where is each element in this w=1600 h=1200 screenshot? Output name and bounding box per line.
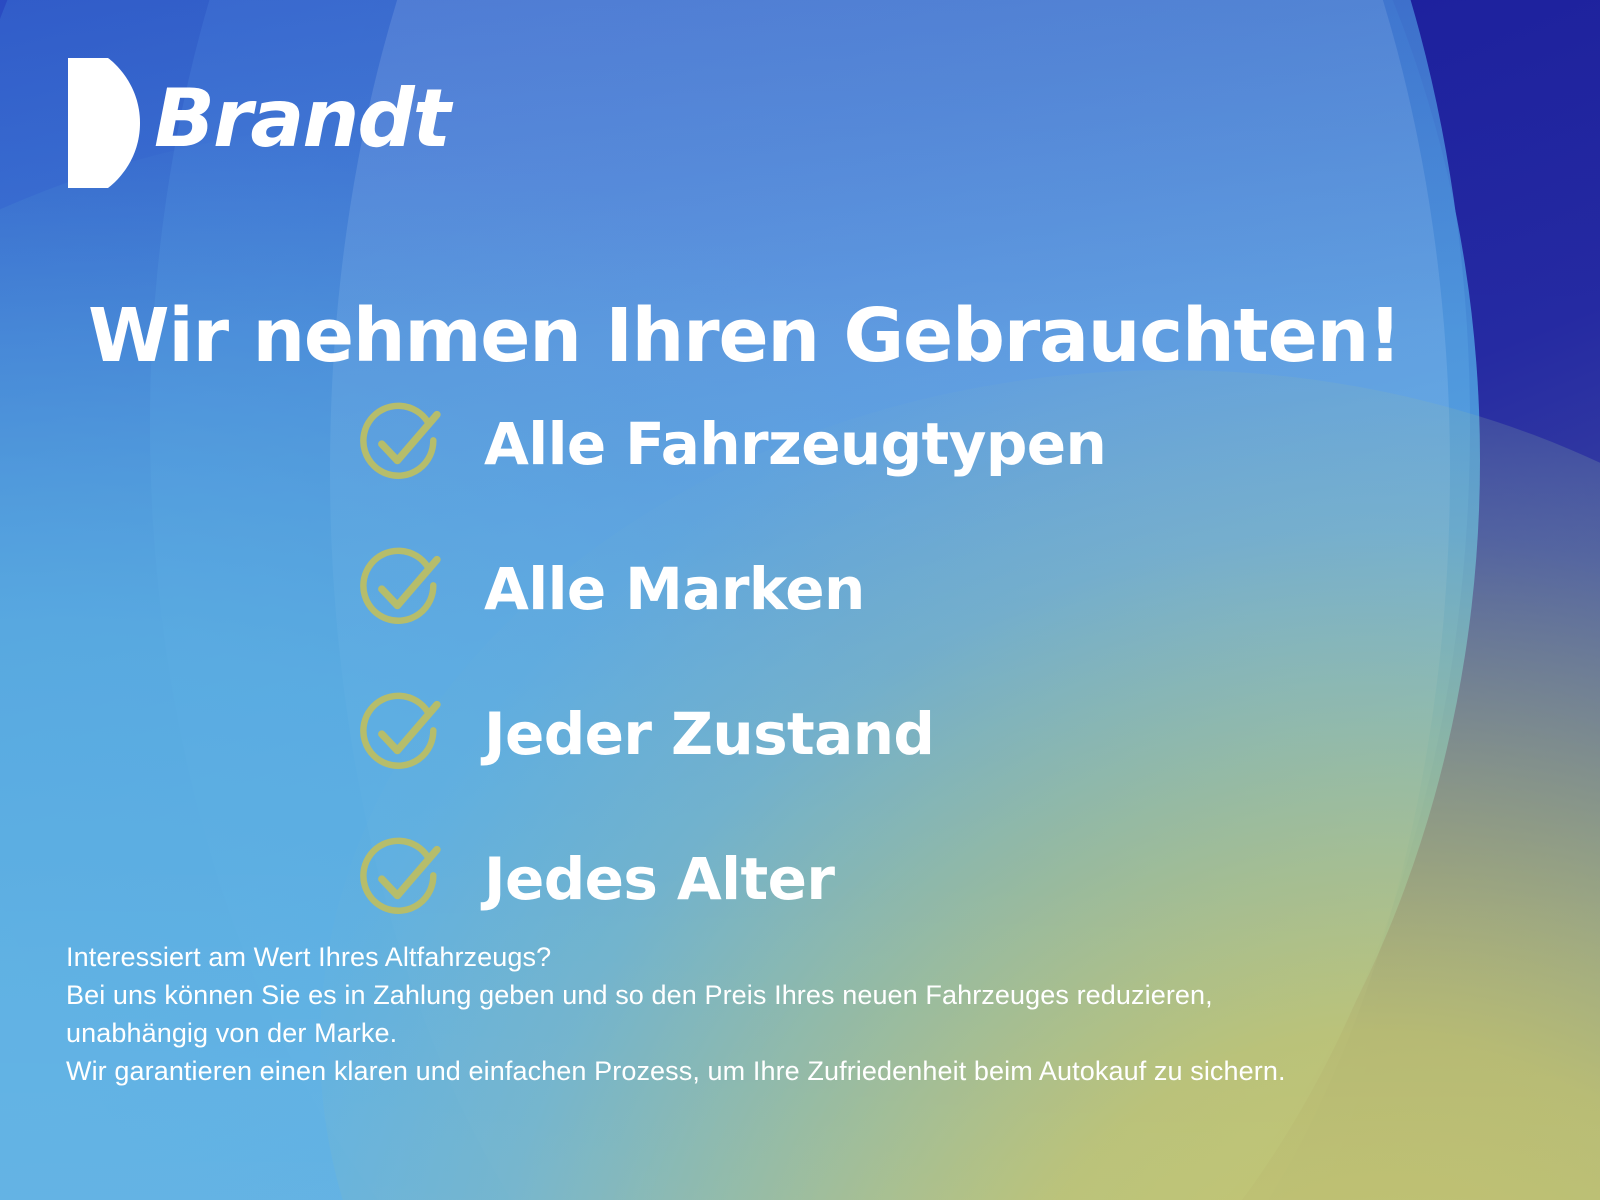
feature-list: Alle Fahrzeugtypen Alle Marken Jeder Zus… — [356, 398, 1106, 925]
list-item: Jeder Zustand — [356, 688, 1106, 780]
check-circle-icon — [356, 543, 448, 635]
check-circle-icon — [356, 833, 448, 925]
check-circle-icon — [356, 688, 448, 780]
page-title: Wir nehmen Ihren Gebrauchten! — [88, 298, 1401, 376]
footnote-line: Wir garantieren einen klaren und einfach… — [66, 1052, 1286, 1090]
poster-content: Brandt Wir nehmen Ihren Gebrauchten! All… — [0, 0, 1600, 1200]
list-item-label: Jedes Alter — [484, 850, 834, 908]
footnote-line: unabhängig von der Marke. — [66, 1014, 1286, 1052]
footnote-paragraph: Interessiert am Wert Ihres Altfahrzeugs?… — [66, 938, 1286, 1090]
list-item-label: Alle Marken — [484, 560, 865, 618]
brand-wordmark: Brandt — [154, 79, 449, 159]
list-item: Jedes Alter — [356, 833, 1106, 925]
bracket-crescent-icon — [68, 58, 140, 188]
list-item: Alle Fahrzeugtypen — [356, 398, 1106, 490]
list-item-label: Alle Fahrzeugtypen — [484, 415, 1106, 473]
brand-logo: Brandt — [68, 58, 449, 188]
check-circle-icon — [356, 398, 448, 490]
promo-poster: Brandt Wir nehmen Ihren Gebrauchten! All… — [0, 0, 1600, 1200]
footnote-line: Interessiert am Wert Ihres Altfahrzeugs? — [66, 938, 1286, 976]
list-item-label: Jeder Zustand — [484, 705, 934, 763]
footnote-line: Bei uns können Sie es in Zahlung geben u… — [66, 976, 1286, 1014]
list-item: Alle Marken — [356, 543, 1106, 635]
